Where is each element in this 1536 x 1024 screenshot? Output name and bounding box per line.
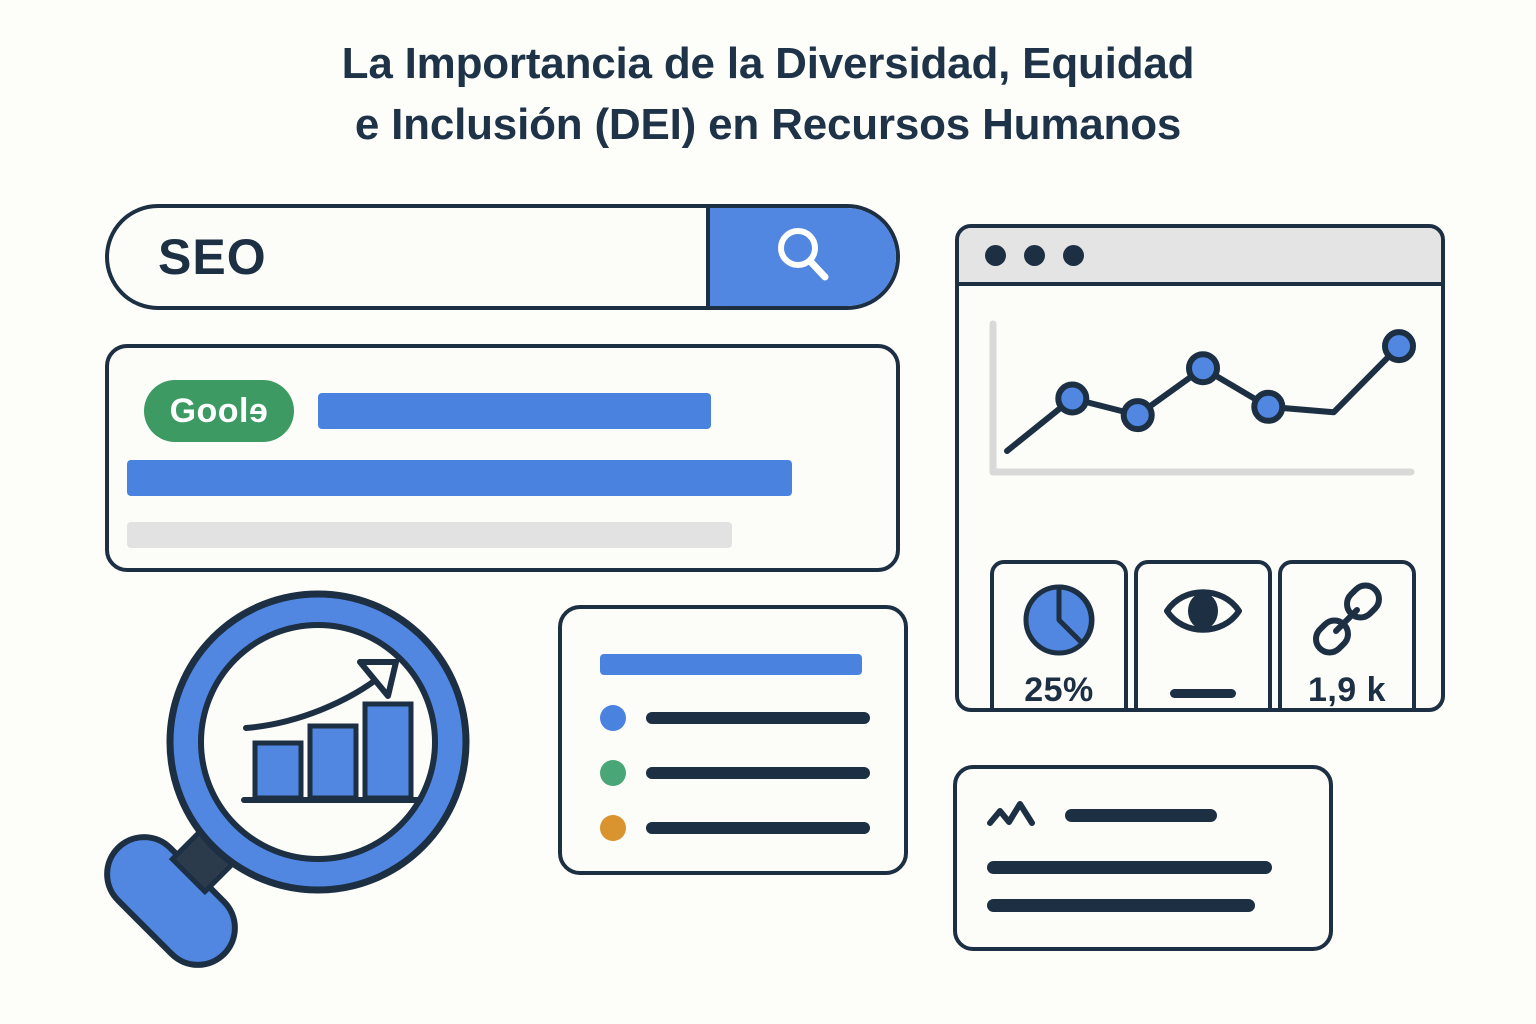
- list-item-text-bar: [646, 712, 870, 724]
- result-description-bar: [127, 522, 732, 548]
- window-minimize-dot-icon[interactable]: [1024, 245, 1045, 266]
- chart-data-point: [1124, 401, 1152, 429]
- page-title-line-2: e Inclusión (DEI) en Recursos Humanos: [0, 95, 1536, 156]
- note-text-line: [1065, 809, 1217, 822]
- analytics-browser-window[interactable]: 25% 1,9 k: [955, 224, 1445, 712]
- chart-data-point: [1189, 354, 1217, 382]
- search-query-text: SEO: [158, 228, 267, 286]
- bullet-list-card[interactable]: [558, 605, 908, 875]
- window-close-dot-icon[interactable]: [985, 245, 1006, 266]
- search-engine-badge-label: Goolɘ: [170, 392, 269, 431]
- search-result-card[interactable]: Goolɘ: [105, 344, 900, 572]
- stat-card-views[interactable]: [1134, 560, 1272, 712]
- list-item-text-bar: [646, 822, 870, 834]
- page-title-line-1: La Importancia de la Diversidad, Equidad: [0, 34, 1536, 95]
- list-bullet-icon: [600, 815, 626, 841]
- eye-icon: [1161, 580, 1245, 647]
- magnifier-growth-chart-icon: [88, 576, 498, 976]
- list-item[interactable]: [600, 705, 870, 731]
- note-card[interactable]: [953, 765, 1333, 951]
- list-item-text-bar: [646, 767, 870, 779]
- list-item[interactable]: [600, 760, 870, 786]
- search-button[interactable]: [710, 208, 896, 306]
- list-bullet-icon: [600, 705, 626, 731]
- search-engine-badge: Goolɘ: [144, 380, 294, 442]
- result-link-bar: [127, 460, 792, 496]
- chart-data-point: [1385, 332, 1413, 360]
- stat-value: 1,9 k: [1308, 671, 1386, 710]
- window-maximize-dot-icon[interactable]: [1063, 245, 1084, 266]
- note-text-line: [987, 861, 1272, 874]
- search-icon: [767, 219, 839, 296]
- browser-title-bar: [959, 228, 1441, 286]
- page-title: La Importancia de la Diversidad, Equidad…: [0, 34, 1536, 155]
- squiggle-line-icon: [987, 801, 1049, 829]
- stat-card-backlinks[interactable]: 1,9 k: [1278, 560, 1416, 712]
- list-title-bar: [600, 654, 862, 675]
- note-text-line: [987, 899, 1255, 912]
- search-input[interactable]: SEO: [109, 208, 710, 306]
- stat-value-placeholder-dash: [1170, 689, 1236, 698]
- line-chart: [959, 286, 1441, 502]
- list-bullet-icon: [600, 760, 626, 786]
- chart-data-point: [1058, 385, 1086, 413]
- result-title-bar: [318, 393, 711, 429]
- stat-card-traffic-share[interactable]: 25%: [990, 560, 1128, 712]
- chart-markers: [1058, 332, 1413, 429]
- list-item[interactable]: [600, 815, 870, 841]
- link-chain-icon: [1307, 580, 1387, 665]
- pie-chart-icon: [1019, 580, 1099, 665]
- stat-value: 25%: [1024, 671, 1094, 710]
- search-bar[interactable]: SEO: [105, 204, 900, 310]
- chart-data-point: [1254, 393, 1282, 421]
